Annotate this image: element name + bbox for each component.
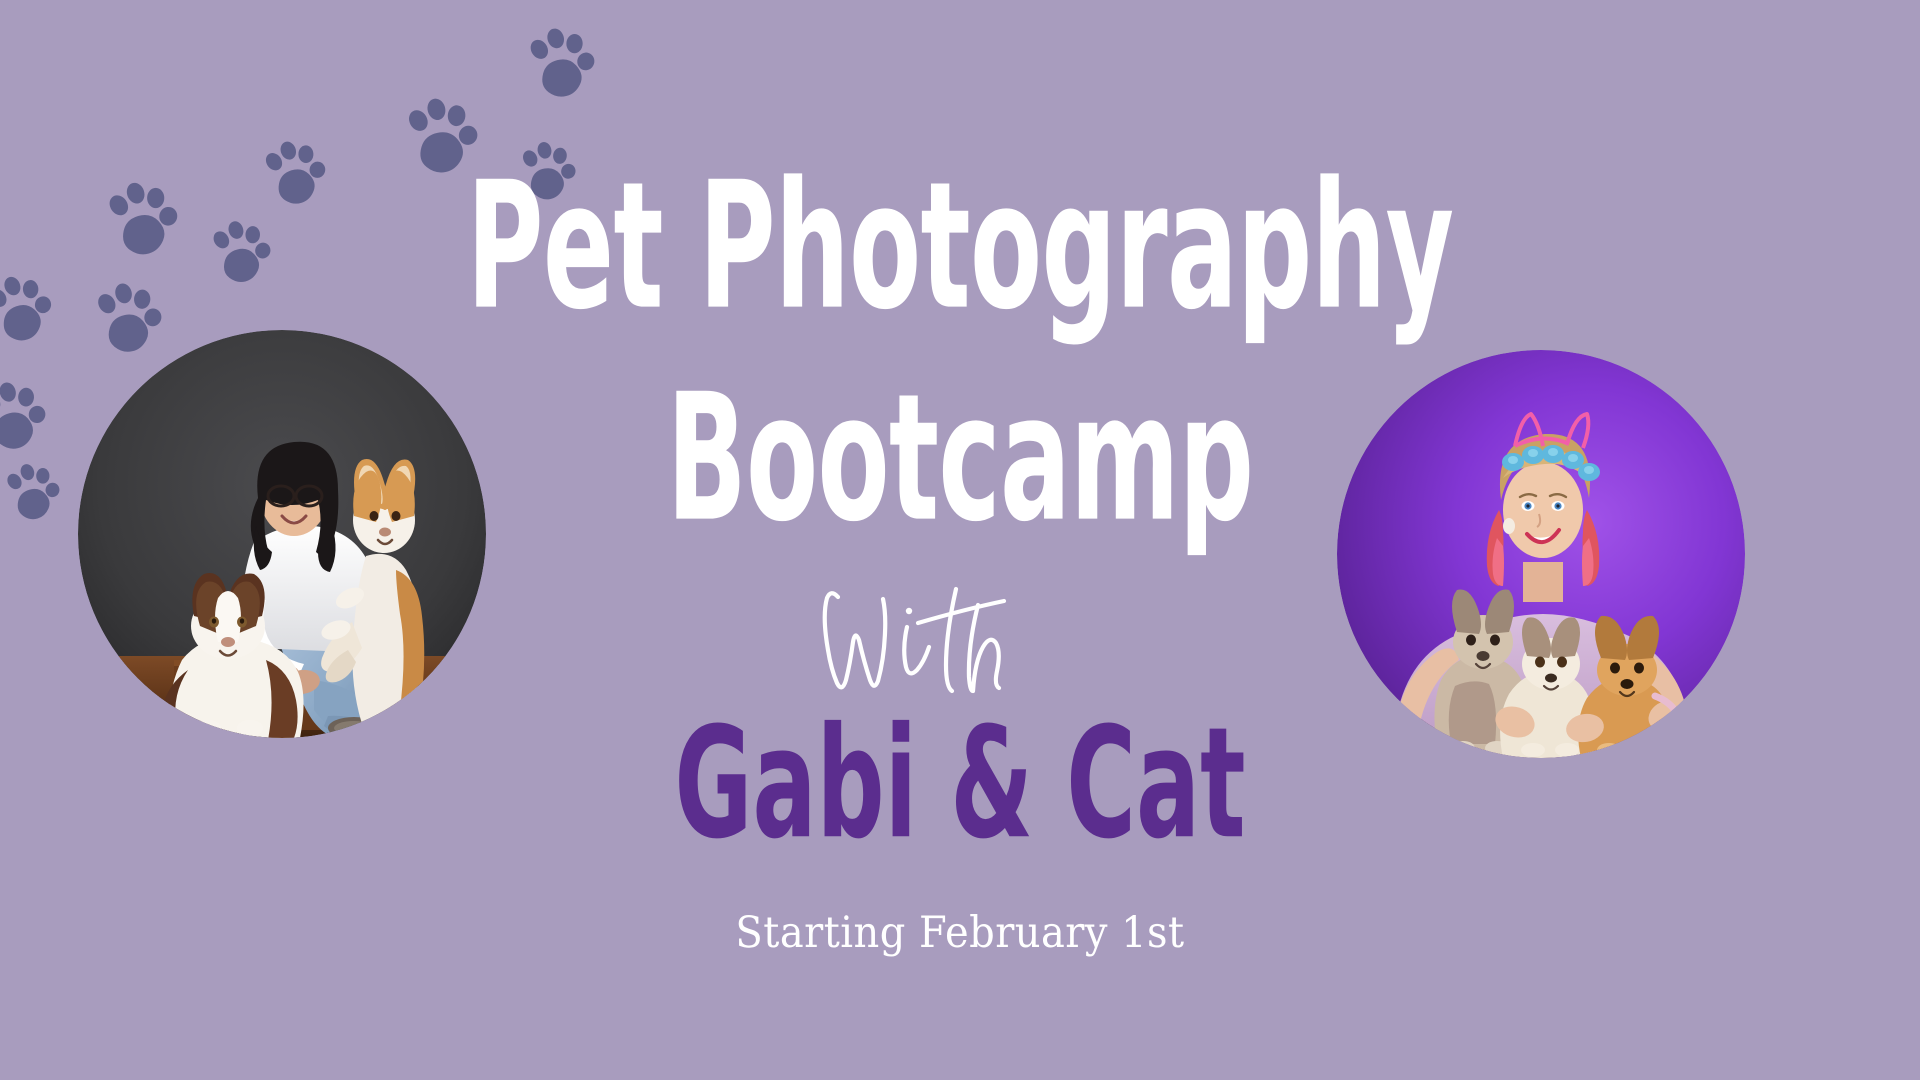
page-title-line-2: Bootcamp <box>288 378 1632 539</box>
with-connector-script <box>0 575 1920 705</box>
text-block: Pet Photography Bootcamp G <box>0 0 1920 1080</box>
promo-banner: Pet Photography Bootcamp G <box>0 0 1920 1080</box>
with-script-glyphs <box>810 575 1110 705</box>
page-title-line-1: Pet Photography <box>288 166 1632 327</box>
presenters-name: Gabi & Cat <box>269 707 1651 860</box>
start-date-text: Starting February 1st <box>67 908 1853 958</box>
